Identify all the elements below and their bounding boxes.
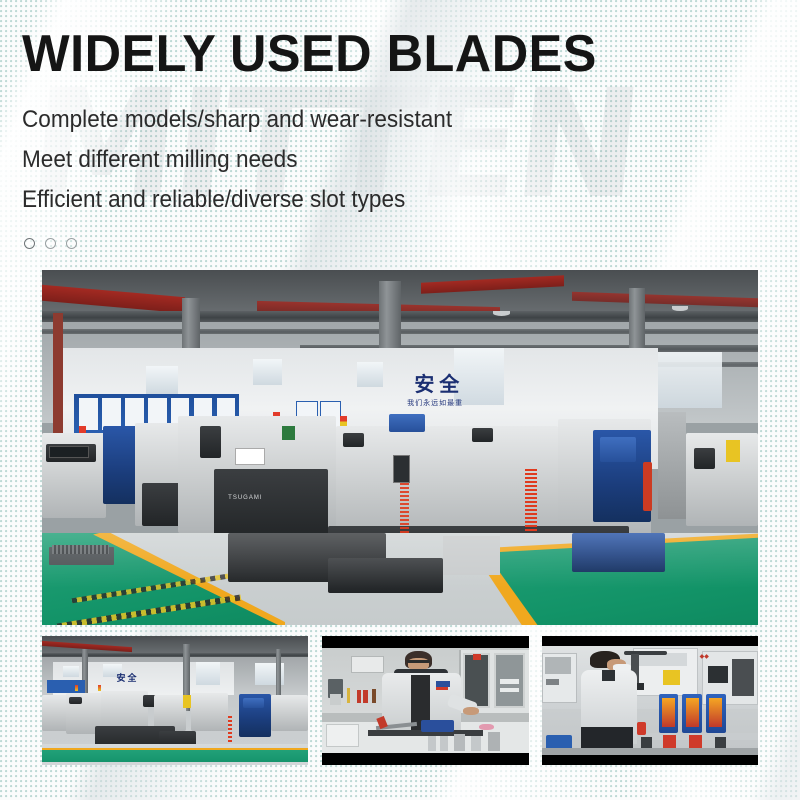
carousel-dot-3[interactable] (66, 238, 77, 249)
banner-header: WIDELY USED BLADES Complete models/sharp… (22, 28, 722, 212)
machine-brand-label: TSUGAMI (228, 495, 262, 501)
subtitle-line-2: Meet different milling needs (22, 148, 680, 172)
thumbnail-operator-machine[interactable]: ◆◆ (542, 636, 758, 765)
carousel-dot-2[interactable] (45, 238, 56, 249)
wall-signage-subtitle: 我们永远如最重 (407, 398, 463, 408)
thumbnail-technician-bench[interactable] (322, 636, 529, 765)
thumbnail-workshop-wide[interactable]: 安全 (42, 636, 308, 765)
carousel-indicator (24, 238, 77, 249)
subtitle-line-1: Complete models/sharp and wear-resistant (22, 108, 680, 132)
hero-image[interactable]: 安全 我们永远如最重 TSUGAMI (42, 270, 758, 625)
promo-banner-page: MITTEN WIDELY USED BLADES Complete model… (0, 0, 800, 800)
page-title: WIDELY USED BLADES (22, 28, 701, 80)
wall-signage-chinese: 安全 (414, 368, 464, 397)
carousel-dot-1[interactable] (24, 238, 35, 249)
subtitle-line-3: Efficient and reliable/diverse slot type… (22, 188, 680, 212)
